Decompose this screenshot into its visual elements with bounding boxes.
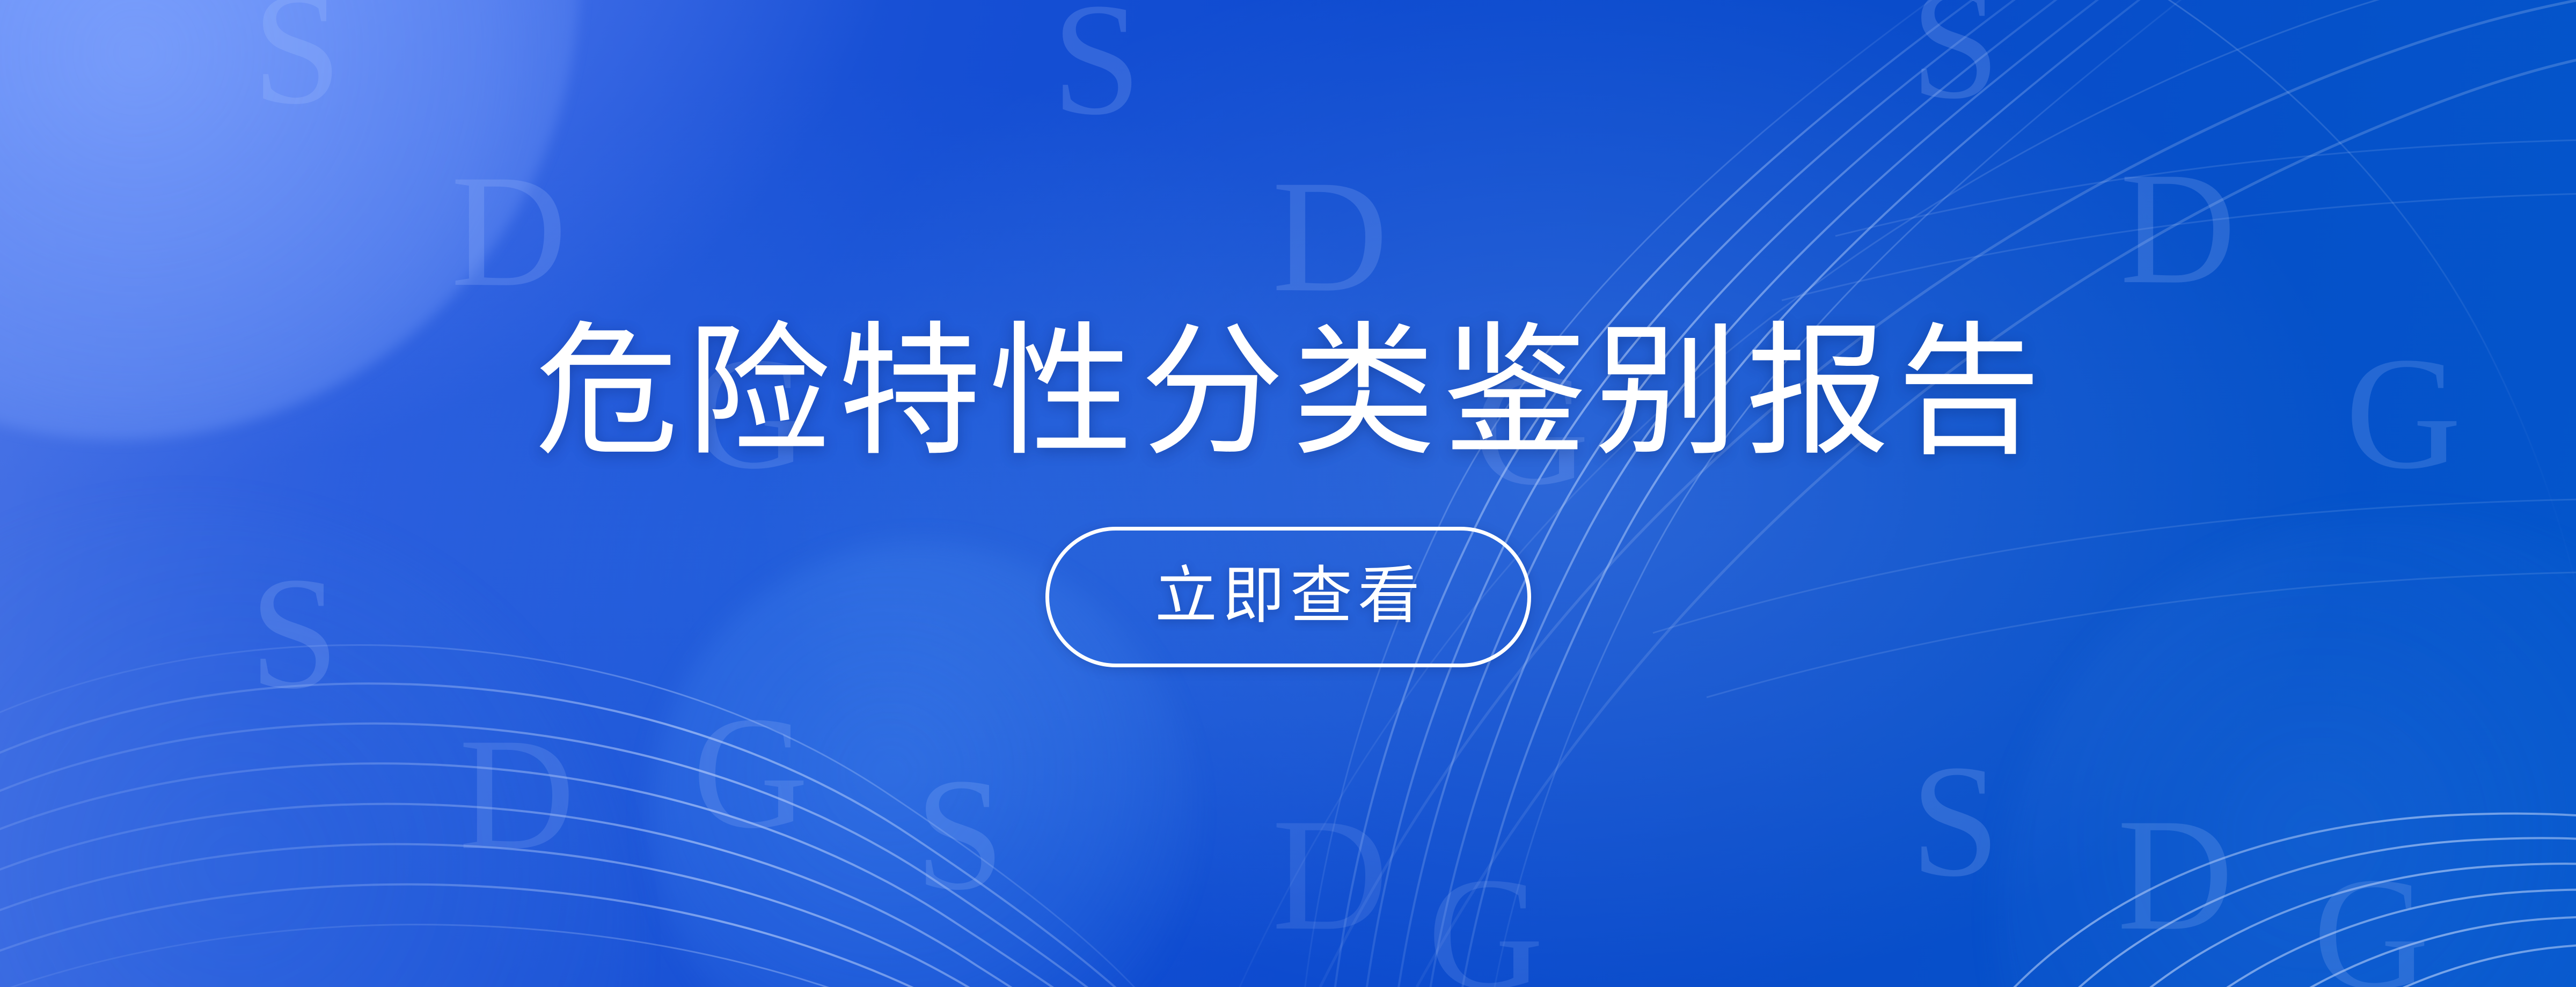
cta-container: 立即查看 [1045, 527, 1531, 667]
banner-content: 危险特性分类鉴别报告 立即查看 [0, 0, 2576, 987]
view-now-button[interactable]: 立即查看 [1045, 527, 1531, 667]
promo-banner: SDGSDGSDGSDGSDGSDG 危险特性分类鉴别报告 立即查看 [0, 0, 2576, 987]
page-title: 危险特性分类鉴别报告 [535, 320, 2048, 463]
